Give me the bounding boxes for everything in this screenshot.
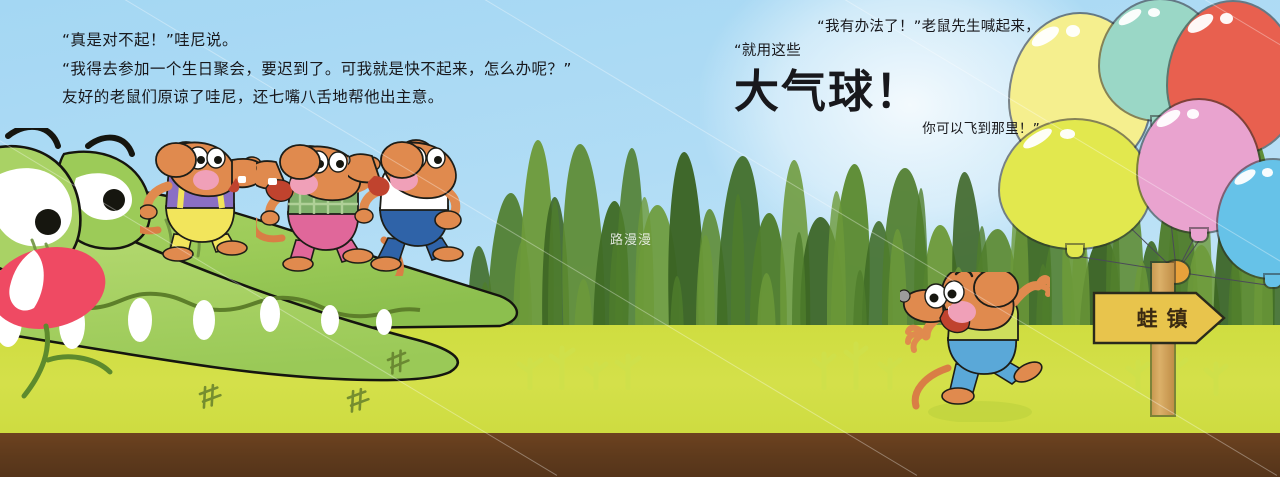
headline-big-balloons: 大气球！	[730, 66, 1040, 118]
narration-left-line-2: “我得去参加一个生日聚会，要迟到了。可我就是快不起来，怎么办呢？”	[62, 55, 642, 84]
narration-text-right: “我有办法了！”老鼠先生喊起来， “就用这些 大气球！ 你可以飞到那里！”	[730, 16, 1040, 140]
narration-text-left: “真是对不起！”哇尼说。 “我得去参加一个生日聚会，要迟到了。可我就是快不起来，…	[62, 26, 642, 112]
narration-right-line-3: 你可以飞到那里！”	[730, 118, 1040, 140]
narration-right-line-1: “我有办法了！”老鼠先生喊起来，	[730, 16, 1040, 38]
watermark-center: 路漫漫	[610, 229, 652, 248]
mouse-runner-character	[900, 272, 1050, 422]
balloon-knot	[1265, 275, 1280, 287]
balloon-knot	[1067, 245, 1083, 257]
mouse-white-character	[348, 136, 488, 276]
signpost-label: 蛙镇	[1114, 301, 1210, 335]
balloon-highlight-small	[1187, 109, 1199, 119]
narration-left-line-1: “真是对不起！”哇尼说。	[62, 26, 642, 55]
balloon-highlight-small	[1220, 13, 1233, 24]
narration-left-line-3: 友好的老鼠们原谅了哇尼，还七嘴八舌地帮他出主意。	[62, 83, 642, 112]
balloon-highlight-small	[1066, 25, 1080, 37]
mouse-purple-character	[140, 138, 270, 268]
balloon-highlight	[1116, 6, 1144, 29]
narration-right-line-2: “就用这些	[730, 38, 1040, 64]
signpost[interactable]: 蛙镇	[1100, 245, 1260, 415]
balloon-highlight-small	[1262, 168, 1273, 177]
balloon-highlight-small	[1148, 8, 1160, 17]
balloon-highlight-small	[1060, 129, 1075, 139]
illustration-canvas: 蛙镇 路漫漫 “真是对不起！”哇尼说。 “我得去参加一个生日聚会，要迟到了。可我…	[0, 0, 1280, 477]
balloon-knot	[1191, 229, 1207, 241]
